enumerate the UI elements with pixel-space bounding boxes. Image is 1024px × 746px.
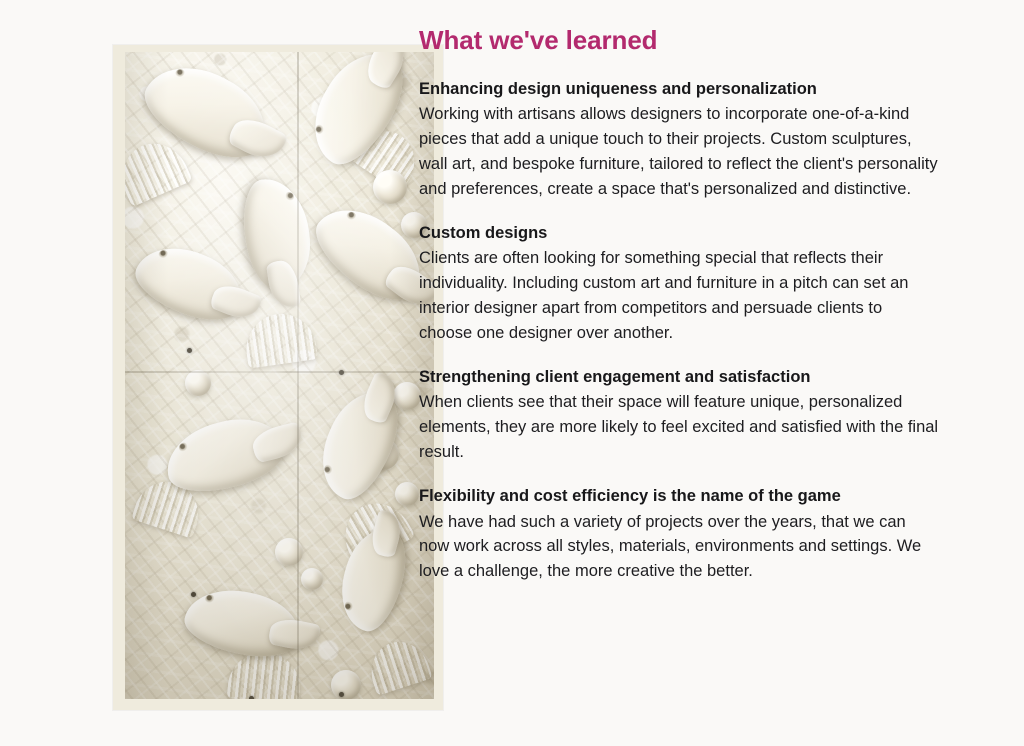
carving-field: [125, 52, 434, 699]
relief-shading-layer: [125, 52, 434, 699]
section-heading: Enhancing design uniqueness and personal…: [419, 78, 939, 101]
section-body: Working with artisans allows designers t…: [419, 102, 939, 202]
section-body: We have had such a variety of projects o…: [419, 510, 939, 585]
article-section: Flexibility and cost efficiency is the n…: [419, 485, 939, 584]
carved-stone-koi-relief-panel: [113, 45, 443, 710]
section-body: Clients are often looking for something …: [419, 246, 939, 346]
article-section: Strengthening client engagement and sati…: [419, 366, 939, 465]
article-section: Enhancing design uniqueness and personal…: [419, 78, 939, 202]
section-heading: Custom designs: [419, 222, 939, 245]
article-page: What we've learned Enhancing design uniq…: [0, 0, 1024, 746]
article-content: What we've learned Enhancing design uniq…: [419, 26, 939, 584]
page-title: What we've learned: [419, 26, 939, 56]
section-heading: Flexibility and cost efficiency is the n…: [419, 485, 939, 508]
section-heading: Strengthening client engagement and sati…: [419, 366, 939, 389]
section-body: When clients see that their space will f…: [419, 390, 939, 465]
article-section: Custom designs Clients are often looking…: [419, 222, 939, 346]
